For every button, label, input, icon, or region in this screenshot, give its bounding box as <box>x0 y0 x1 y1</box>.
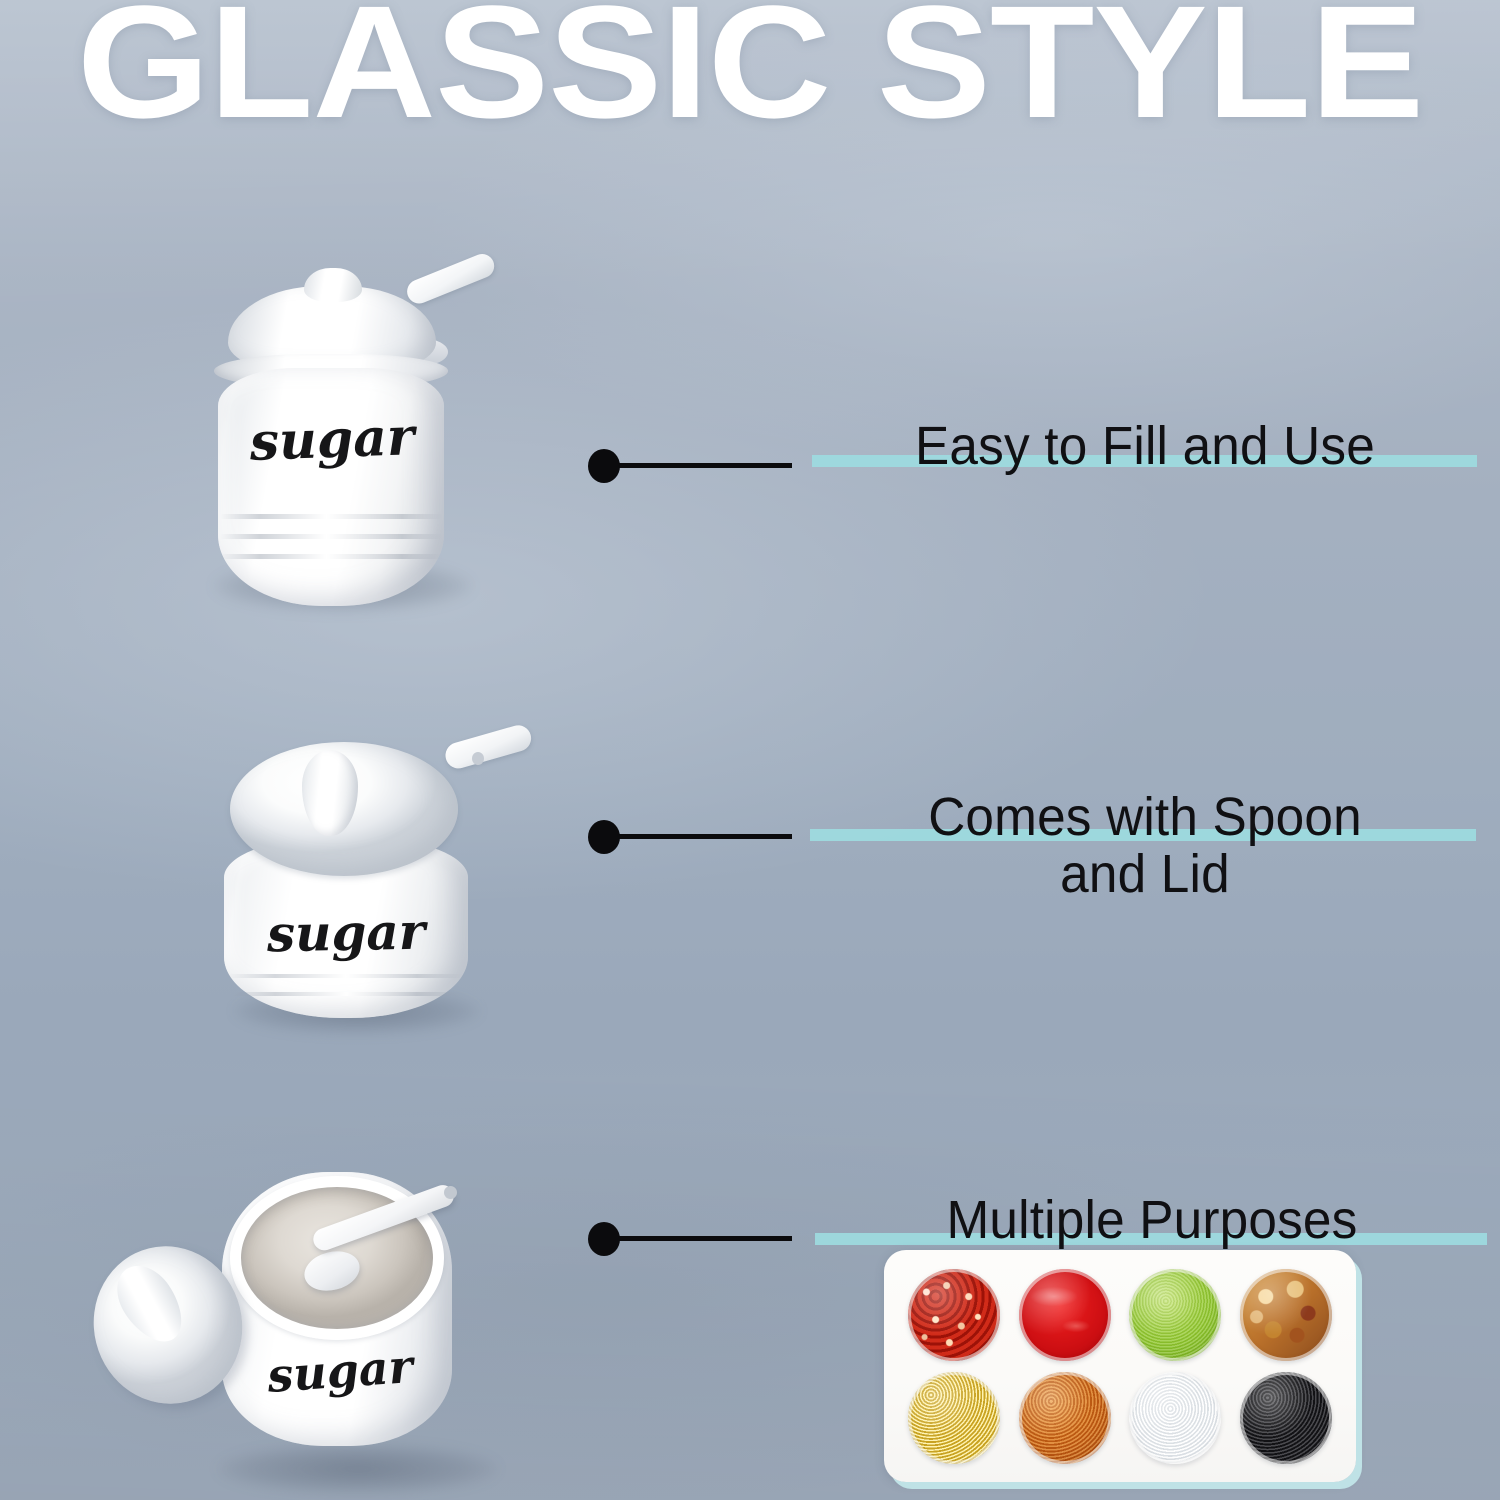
page-title: GLASSIC STYLE <box>0 0 1500 142</box>
lid-knob <box>304 268 362 302</box>
jar-shadow <box>218 1444 498 1494</box>
feature-label: Comes with Spoon and Lid <box>817 789 1473 903</box>
jar-rib <box>228 974 464 978</box>
product-photo-jar-open-view: sugar <box>78 1158 548 1500</box>
jar-label-text: sugar <box>243 411 421 469</box>
spoon-handle <box>442 722 534 771</box>
spoon-handle-hole <box>444 1186 457 1199</box>
leader-line <box>614 463 792 468</box>
jar-rib <box>220 514 442 519</box>
leader-line <box>614 834 792 839</box>
spice-bowl-black-sesame-seeds <box>1240 1372 1332 1464</box>
jar-label-text: sugar <box>259 1342 422 1399</box>
jar-body <box>218 368 444 606</box>
spoon-handle-hole <box>472 752 484 765</box>
feature-label: Easy to Fill and Use <box>817 418 1473 475</box>
spice-bowl-yellow-mustard-seeds <box>908 1372 1000 1464</box>
feature-label: Multiple Purposes <box>829 1192 1475 1249</box>
jar-rib <box>228 992 464 996</box>
spice-bowl-orange-chili-powder <box>1019 1372 1111 1464</box>
spice-bowl-chopped-red-chili <box>908 1269 1000 1361</box>
spice-bowl-white-salt <box>1129 1372 1221 1464</box>
product-photo-jar-front-view: sugar <box>186 262 516 622</box>
spice-bowl-dried-chili-flakes <box>1240 1269 1332 1361</box>
spice-bowl-green-matcha-powder <box>1129 1269 1221 1361</box>
jar-label-text: sugar <box>246 906 447 959</box>
spice-sample-tray <box>884 1250 1356 1482</box>
spice-bowl-red-chili-sauce <box>1019 1269 1111 1361</box>
jar-rib <box>220 554 442 559</box>
product-photo-jar-angled-view: sugar <box>204 726 544 1046</box>
jar-rib <box>220 534 442 539</box>
leader-line <box>614 1236 792 1241</box>
